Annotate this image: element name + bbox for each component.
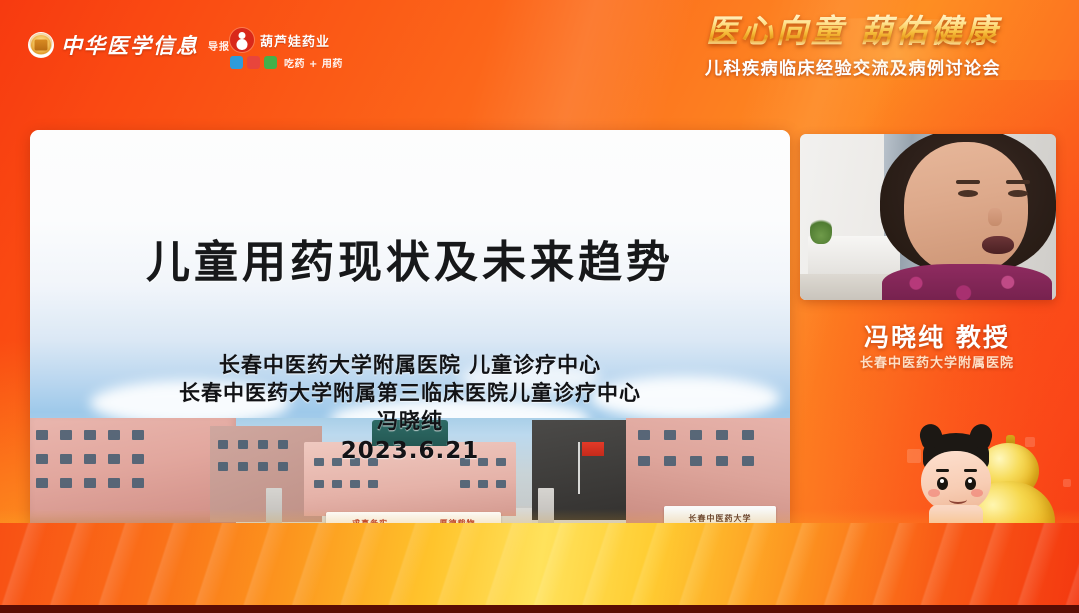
hulu-logo-tagline: 吃药 + 用药 bbox=[284, 55, 343, 70]
presentation-slide[interactable]: 求真务实 厚德载物 长春中医药大学 儿童用药现状及未来趋势 长春中医药大学附属医… bbox=[30, 130, 790, 560]
cma-logo-suffix: 导报 bbox=[208, 38, 230, 53]
decorative-square bbox=[951, 543, 963, 555]
mascot-eye bbox=[937, 477, 948, 490]
campus-gate-sign-text: 长春中医药大学 bbox=[689, 513, 752, 524]
mascot-mouth bbox=[949, 495, 967, 504]
hulu-logo-primary-row: 葫芦娃药业 bbox=[230, 28, 343, 52]
mascot-cheek bbox=[928, 489, 940, 497]
speaker-eye bbox=[958, 190, 978, 197]
mascot-eye bbox=[965, 477, 976, 490]
speaker-name: 冯晓纯 教授 bbox=[795, 318, 1079, 354]
cma-logo: 中华医学信息 导报 bbox=[28, 32, 230, 58]
speaker-eyebrow bbox=[1006, 180, 1030, 184]
mascot-boy bbox=[909, 433, 1005, 559]
gate-pillar bbox=[266, 488, 282, 534]
mascot-leg bbox=[933, 537, 947, 559]
campus-sign-left-text: 求真务实 bbox=[352, 518, 388, 529]
speaker-clothing bbox=[882, 264, 1052, 300]
event-banner: 医心向童 葫佑健康 儿科疾病临床经验交流及病例讨论会 bbox=[653, 14, 1053, 79]
broadcast-stage: 中华医学信息 导报 葫芦娃药业 吃药 + 用药 医心向童 葫佑健康 儿科疾病临床… bbox=[0, 0, 1079, 613]
header-bar: 中华医学信息 导报 葫芦娃药业 吃药 + 用药 医心向童 葫佑健康 儿科疾病临床… bbox=[0, 0, 1079, 108]
mascot-leg bbox=[961, 537, 975, 559]
speaker-eyebrow bbox=[956, 180, 980, 184]
speaker-face bbox=[904, 142, 1028, 274]
red-chip-icon bbox=[247, 56, 260, 69]
slide-line-2: 长春中医药大学附属第三临床医院儿童诊疗中心 bbox=[30, 380, 790, 408]
mascot-cheek bbox=[971, 489, 983, 497]
decorative-square bbox=[907, 449, 921, 463]
decorative-square bbox=[1025, 437, 1035, 447]
speaker-portrait bbox=[868, 134, 1056, 300]
slide-line-1: 长春中医药大学附属医院 儿童诊疗中心 bbox=[30, 352, 790, 380]
cma-seal-icon bbox=[28, 32, 54, 58]
hulu-logo-secondary-row: 吃药 + 用药 bbox=[230, 55, 343, 70]
slide-subtitle-block: 长春中医药大学附属医院 儿童诊疗中心 长春中医药大学附属第三临床医院儿童诊疗中心… bbox=[30, 352, 790, 467]
event-title: 医心向童 葫佑健康 bbox=[653, 14, 1053, 49]
speaker-video-tile[interactable] bbox=[800, 134, 1056, 300]
event-subtitle: 儿科疾病临床经验交流及病例讨论会 bbox=[653, 54, 1053, 79]
speaker-eye bbox=[1008, 190, 1028, 197]
blue-chip-icon bbox=[230, 56, 243, 69]
speaker-nose bbox=[988, 208, 1002, 226]
cma-wordmark: 中华医学信息 bbox=[61, 35, 199, 56]
slide-title: 儿童用药现状及未来趋势 bbox=[30, 226, 790, 290]
speaker-mouth bbox=[982, 236, 1014, 254]
bottom-edge-strip bbox=[0, 605, 1079, 613]
hulu-logo-name: 葫芦娃药业 bbox=[260, 31, 330, 50]
mascot-face bbox=[921, 451, 991, 513]
plant-icon bbox=[810, 216, 832, 244]
decorative-square bbox=[1063, 479, 1071, 487]
green-chip-icon bbox=[264, 56, 277, 69]
slide-line-3: 冯晓纯 bbox=[30, 407, 790, 435]
campus-gate-sign: 长春中医药大学 bbox=[664, 506, 776, 530]
gourd-mark-icon bbox=[230, 28, 254, 52]
slide-line-4: 2023.6.21 bbox=[30, 436, 790, 467]
hulu-pharma-logo: 葫芦娃药业 吃药 + 用药 bbox=[230, 28, 343, 70]
campus-sign-wall: 求真务实 厚德载物 bbox=[326, 512, 501, 534]
campus-sign-right-text: 厚德载物 bbox=[439, 518, 475, 529]
speaker-organization: 长春中医药大学附属医院 bbox=[795, 352, 1079, 371]
gate-pillar bbox=[538, 488, 554, 534]
mascot-eyebrow bbox=[936, 469, 949, 472]
mascot-eyebrow bbox=[964, 469, 977, 472]
calabash-boy-mascot bbox=[891, 427, 1061, 567]
